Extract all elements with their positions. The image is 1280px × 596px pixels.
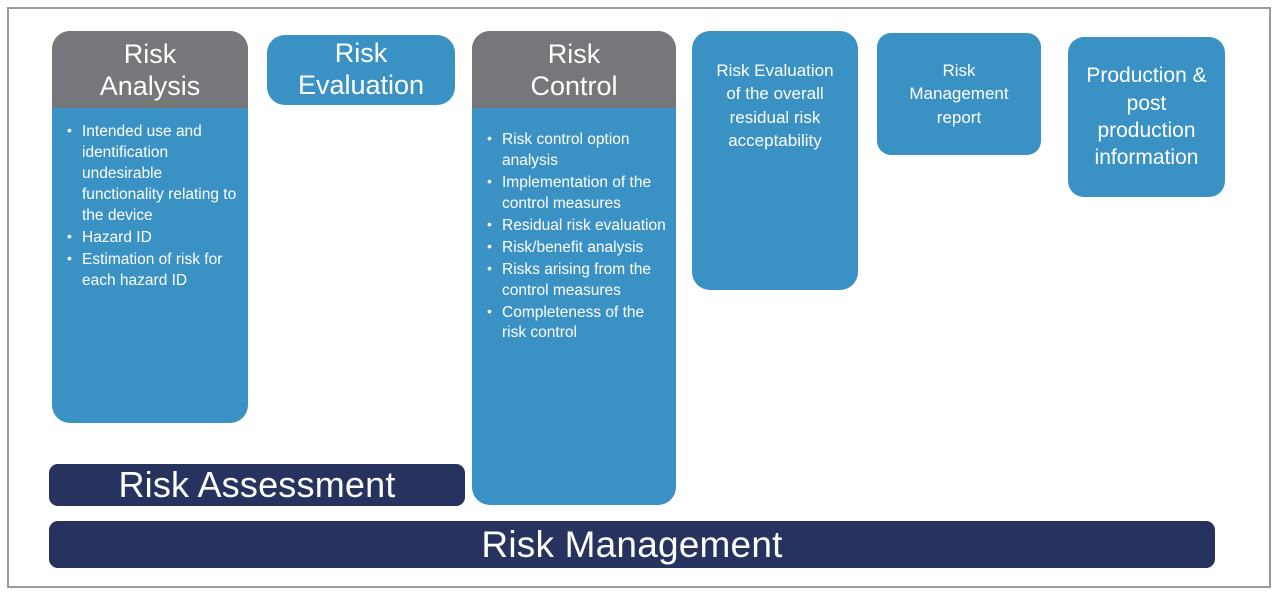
node-risk-control-header: Risk Control <box>472 31 676 108</box>
list-item: Estimation of risk for each hazard ID <box>82 250 240 292</box>
node-risk-analysis-body: Intended use and identification undesira… <box>52 108 248 302</box>
node-risk-analysis-header-line1: Risk <box>56 39 244 71</box>
node-risk-analysis-header-line2: Analysis <box>56 71 244 103</box>
node-risk-management-report-label: Risk Management report <box>883 59 1035 129</box>
node-risk-control-header-line2: Control <box>476 71 672 103</box>
node-risk-evaluation-line2: Evaluation <box>298 70 424 102</box>
diagram-canvas: Risk Analysis Intended use and identific… <box>0 0 1280 596</box>
node-risk-management-report[interactable]: Risk Management report <box>877 33 1041 155</box>
list-item: Risks arising from the control measures <box>502 260 668 302</box>
node-risk-analysis-header: Risk Analysis <box>52 31 248 108</box>
list-item: Hazard ID <box>82 228 240 249</box>
banner-risk-management-label: Risk Management <box>481 526 782 563</box>
risk-analysis-bullet-list: Intended use and identification undesira… <box>52 108 248 302</box>
banner-risk-management[interactable]: Risk Management <box>49 521 1215 568</box>
node-risk-control-header-line1: Risk <box>476 39 672 71</box>
node-risk-evaluation[interactable]: Risk Evaluation <box>267 35 455 105</box>
banner-risk-assessment-label: Risk Assessment <box>118 467 395 503</box>
list-item: Intended use and identification undesira… <box>82 122 240 227</box>
node-production-post-production-label: Production & post production information <box>1074 62 1219 171</box>
node-risk-evaluation-line1: Risk <box>298 38 424 70</box>
node-overall-residual-risk-label: Risk Evaluation of the overall residual … <box>698 59 852 153</box>
list-item: Implementation of the control measures <box>502 173 668 215</box>
list-item: Completeness of the risk control <box>502 303 668 345</box>
node-risk-analysis[interactable]: Risk Analysis Intended use and identific… <box>52 31 248 423</box>
list-item: Residual risk evaluation <box>502 216 668 237</box>
node-risk-control-body: Risk control option analysis Implementat… <box>472 108 676 355</box>
node-risk-control[interactable]: Risk Control Risk control option analysi… <box>472 31 676 505</box>
node-production-post-production[interactable]: Production & post production information <box>1068 37 1225 197</box>
node-overall-residual-risk[interactable]: Risk Evaluation of the overall residual … <box>692 31 858 290</box>
banner-risk-assessment[interactable]: Risk Assessment <box>49 464 465 506</box>
node-risk-evaluation-label: Risk Evaluation <box>298 38 424 101</box>
list-item: Risk control option analysis <box>502 130 668 172</box>
list-item: Risk/benefit analysis <box>502 238 668 259</box>
risk-control-bullet-list: Risk control option analysis Implementat… <box>472 108 676 355</box>
